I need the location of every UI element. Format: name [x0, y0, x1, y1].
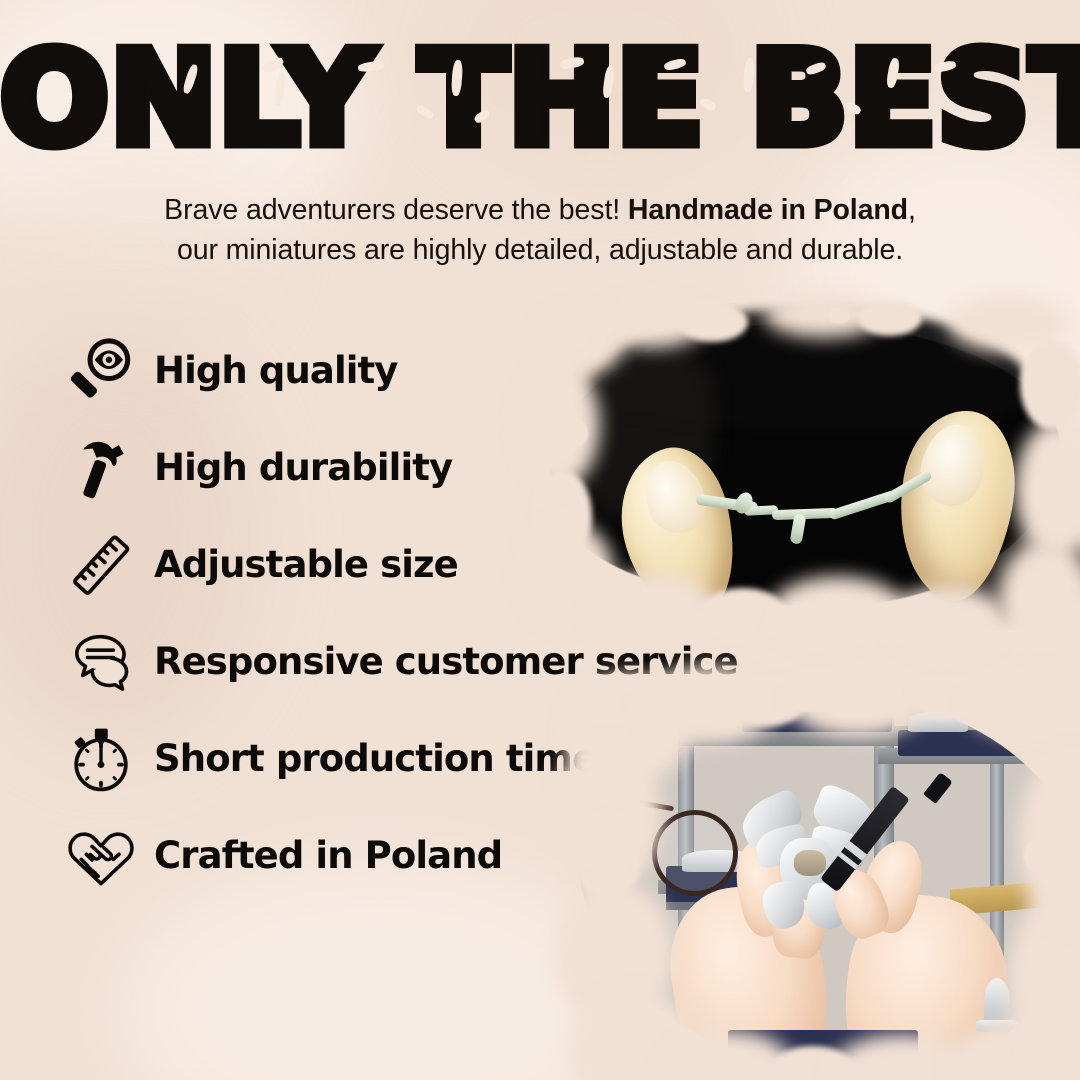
miniature-tray	[898, 730, 1074, 756]
feature-label: Crafted in Poland	[154, 834, 502, 877]
page-title: ONLY THE BEST	[0, 36, 1080, 164]
feature-item: High quality	[62, 322, 822, 419]
shelf-miniature	[982, 710, 1054, 732]
workshop-crafting-photo	[578, 690, 1080, 1080]
feature-label: Short production time	[154, 737, 596, 780]
subtitle-line-2: our miniatures are highly detailed, adju…	[177, 234, 903, 266]
shelf-miniature	[908, 712, 968, 732]
feature-label: Adjustable size	[154, 543, 458, 586]
bench-miniature	[984, 978, 1010, 1026]
heart-handshake-icon	[62, 817, 140, 895]
subtitle-line-1: Brave adventurers deserve the best! Hand…	[164, 194, 916, 226]
bench-miniature	[976, 1020, 1018, 1032]
shelf-miniature	[750, 696, 786, 712]
hammer-icon	[62, 429, 140, 507]
promo-poster: ONLY THE BEST Brave adventurers deserve …	[0, 0, 1080, 1080]
miniature-tray	[728, 1030, 918, 1064]
magnifier-eye-icon	[62, 332, 140, 410]
subtitle: Brave adventurers deserve the best! Hand…	[0, 190, 1080, 270]
speech-bubbles-icon	[62, 623, 140, 701]
subtitle-emphasis: Handmade in Poland	[628, 194, 908, 226]
eyeglasses	[652, 810, 738, 896]
feature-item: Adjustable size	[62, 516, 822, 613]
ruler-icon	[62, 526, 140, 604]
shelf-miniature	[800, 694, 844, 712]
feature-label: Responsive customer service	[154, 640, 738, 683]
feature-item: High durability	[62, 419, 822, 516]
subtitle-prefix: Brave adventurers deserve the best!	[164, 194, 628, 226]
subtitle-suffix: ,	[908, 194, 916, 226]
stopwatch-icon	[62, 720, 140, 798]
feature-label: High durability	[154, 446, 452, 489]
feature-label: High quality	[154, 349, 398, 392]
